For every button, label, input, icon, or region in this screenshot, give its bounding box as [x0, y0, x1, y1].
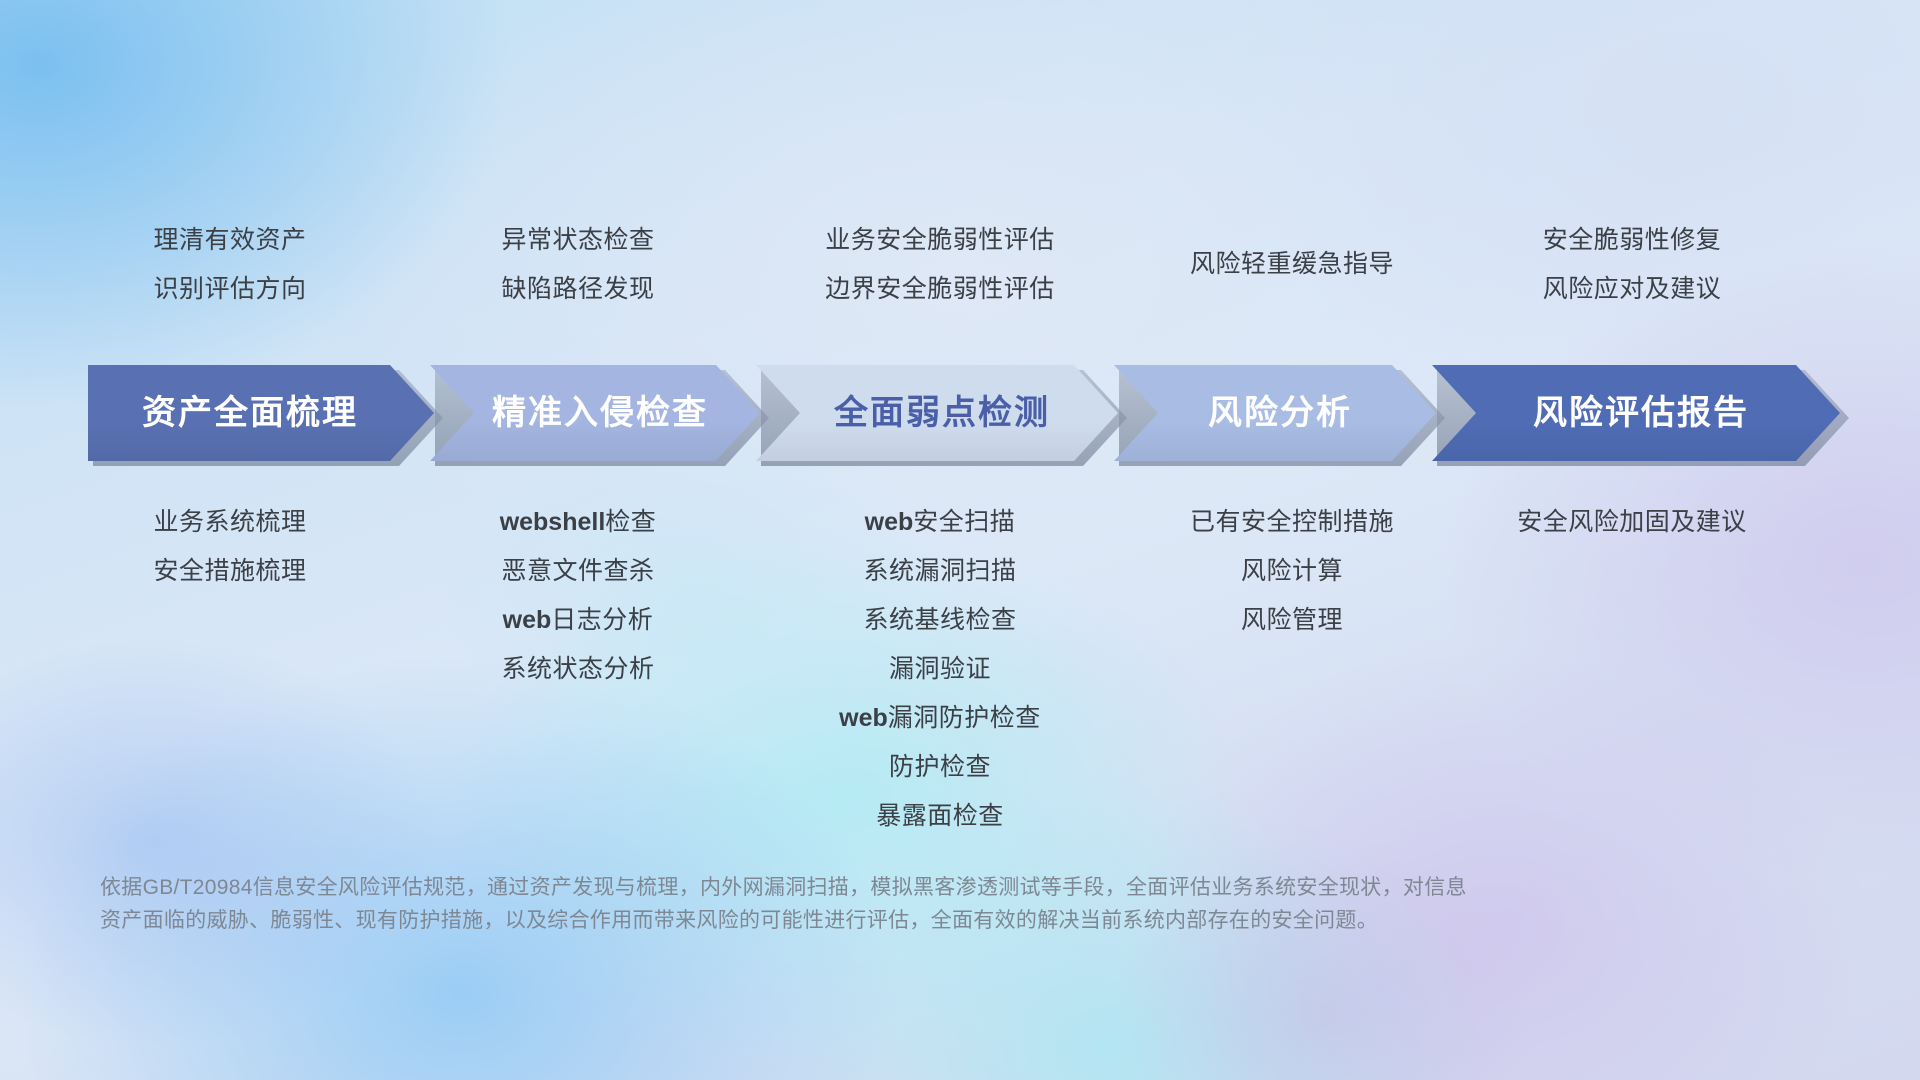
bottom-item-cjk: 风险计算	[1241, 557, 1343, 585]
bottom-item-cjk: 检查	[605, 508, 656, 536]
chevron-label: 精准入侵检查	[492, 396, 708, 430]
bottom-item: web漏洞防护检查	[690, 706, 1190, 731]
top-note: 业务安全脆弱性评估	[690, 228, 1190, 253]
bottom-item: 安全风险加固及建议	[1382, 510, 1882, 535]
chevron-label: 全面弱点检测	[834, 396, 1050, 430]
footer-line-1: 依据GB/T20984信息安全风险评估规范，通过资产发现与梳理，内外网漏洞扫描，…	[100, 872, 1740, 905]
bottom-item-cjk: 日志分析	[551, 606, 653, 634]
bottom-item: 风险管理	[1042, 608, 1542, 633]
bottom-items-column-risk-report: 安全风险加固及建议	[1382, 510, 1882, 535]
bottom-item-latin: web	[839, 704, 888, 732]
chevron-label: 资产全面梳理	[142, 396, 358, 430]
risk-assessment-process-diagram: 理清有效资产识别评估方向异常状态检查缺陷路径发现业务安全脆弱性评估边界安全脆弱性…	[0, 0, 1920, 1080]
bottom-item: 风险计算	[1042, 559, 1542, 584]
bottom-item-cjk: 已有安全控制措施	[1190, 508, 1394, 536]
bottom-item: 漏洞验证	[690, 657, 1190, 682]
top-note: 边界安全脆弱性评估	[690, 277, 1190, 302]
process-chevron-band: 资产全面梳理精准入侵检查全面弱点检测风险分析风险评估报告	[0, 365, 1920, 461]
bottom-item: 暴露面检查	[690, 804, 1190, 829]
chevron-stage-intrusion-check[interactable]: 精准入侵检查	[430, 365, 760, 461]
top-notes-column-risk-report: 安全脆弱性修复风险应对及建议	[1382, 228, 1882, 302]
chevron-stage-weakness-detection[interactable]: 全面弱点检测	[756, 365, 1118, 461]
chevron-label: 风险评估报告	[1533, 396, 1749, 430]
bottom-item-cjk: 系统状态分析	[501, 655, 654, 683]
bottom-item-cjk: 业务系统梳理	[153, 508, 306, 536]
bottom-item-cjk: 漏洞防护检查	[888, 704, 1041, 732]
bottom-item-cjk: 漏洞验证	[889, 655, 991, 683]
bottom-item-latin: webshell	[500, 508, 606, 536]
chevron-stage-risk-report[interactable]: 风险评估报告	[1432, 365, 1840, 461]
bottom-item: 防护检查	[690, 755, 1190, 780]
bottom-item-cjk: 暴露面检查	[876, 802, 1004, 830]
chevron-stage-asset-inventory[interactable]: 资产全面梳理	[88, 365, 434, 461]
bottom-item-cjk: 安全扫描	[913, 508, 1015, 536]
footer-line-2: 资产面临的威胁、脆弱性、现有防护措施，以及综合作用而带来风险的可能性进行评估，全…	[100, 905, 1740, 938]
bottom-item-cjk: 防护检查	[889, 753, 991, 781]
bottom-item-cjk: 系统基线检查	[863, 606, 1016, 634]
bottom-item-cjk: 风险管理	[1241, 606, 1343, 634]
top-note: 安全脆弱性修复	[1382, 228, 1882, 253]
footer-description: 依据GB/T20984信息安全风险评估规范，通过资产发现与梳理，内外网漏洞扫描，…	[100, 872, 1740, 937]
bottom-item-latin: web	[865, 508, 914, 536]
bottom-item-cjk: 安全风险加固及建议	[1517, 508, 1747, 536]
chevron-stage-risk-analysis[interactable]: 风险分析	[1114, 365, 1436, 461]
top-note: 风险应对及建议	[1382, 277, 1882, 302]
chevron-label: 风险分析	[1208, 396, 1352, 430]
bottom-item-latin: web	[503, 606, 552, 634]
bottom-item-cjk: 安全措施梳理	[153, 557, 306, 585]
bottom-item-cjk: 恶意文件查杀	[501, 557, 654, 585]
bottom-item-cjk: 系统漏洞扫描	[863, 557, 1016, 585]
